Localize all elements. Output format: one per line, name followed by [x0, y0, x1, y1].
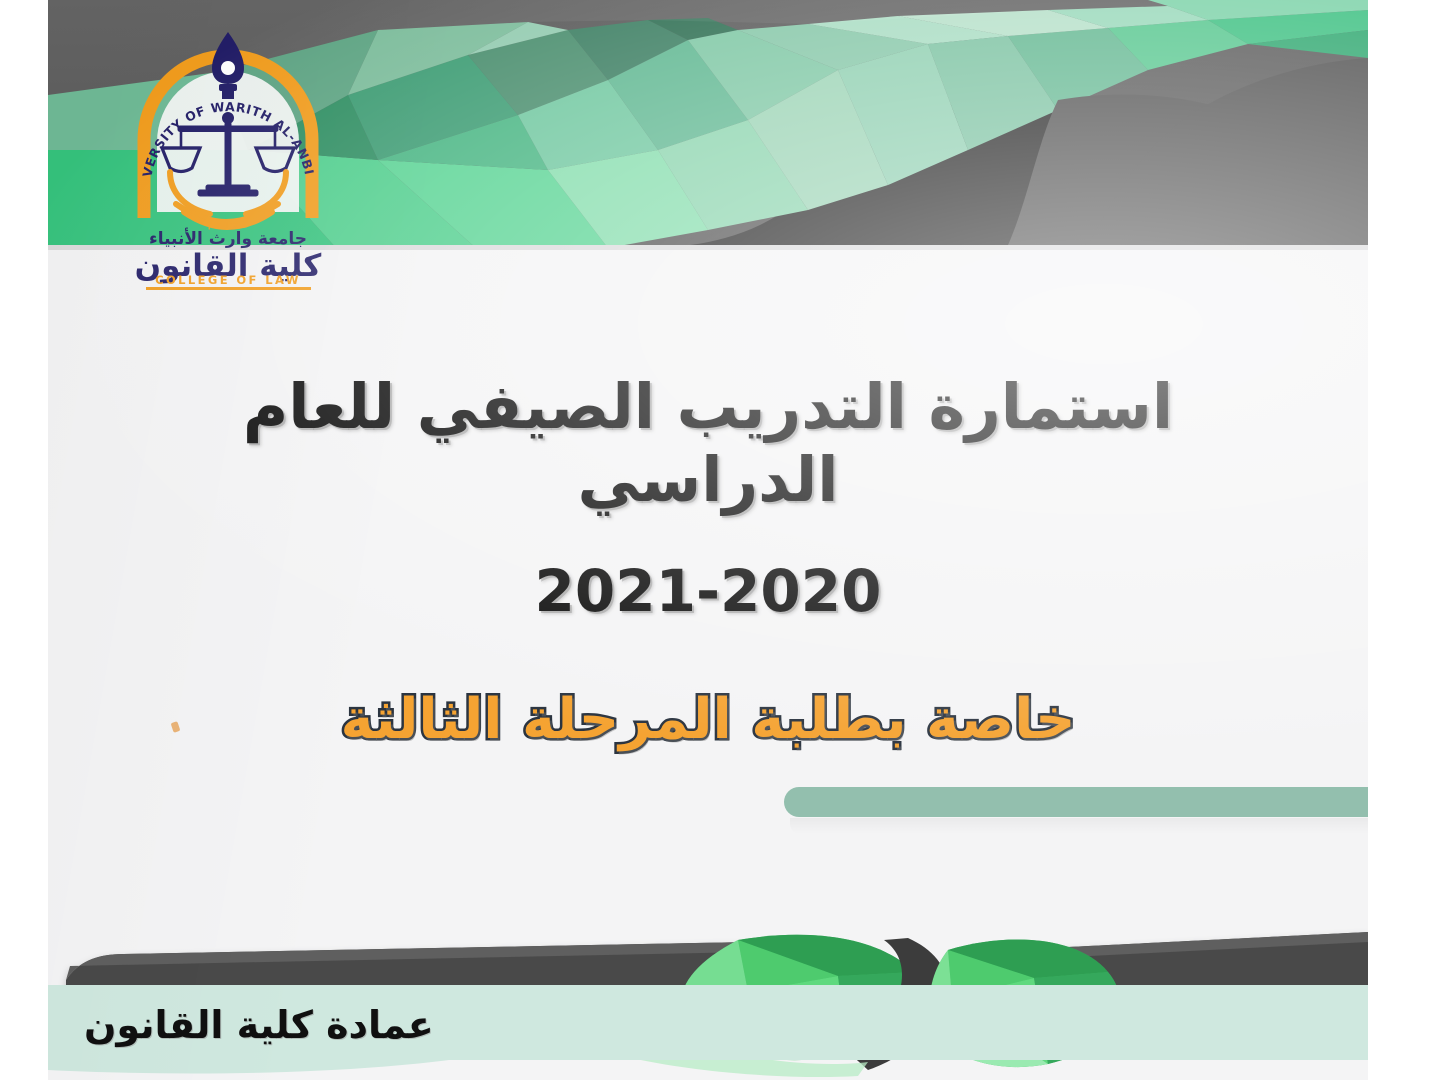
- mid-bar-shadow: [790, 818, 1368, 834]
- headline-block: استمارة التدريب الصيفي للعام الدراسي 202…: [48, 370, 1368, 753]
- page-subtitle: خاصة بطلبة المرحلة الثالثة: [48, 688, 1368, 752]
- footer-label: عمادة كلية القانون: [84, 995, 644, 1055]
- page-title: استمارة التدريب الصيفي للعام الدراسي: [48, 370, 1368, 516]
- logo-underline: [146, 287, 311, 290]
- logo-faculty-en: COLLEGE OF LAW: [155, 273, 301, 287]
- slide-canvas: UNIVERSITY OF WARITH AL-ANBIYAA: [0, 0, 1440, 1080]
- academic-year: 2021-2020: [48, 562, 1368, 620]
- university-logo: UNIVERSITY OF WARITH AL-ANBIYAA: [126, 22, 331, 290]
- logo-institution-ar: جامعة وارث الأنبياء: [149, 228, 307, 249]
- slide: UNIVERSITY OF WARITH AL-ANBIYAA: [48, 0, 1368, 1080]
- mid-accent-bar: [784, 787, 1368, 817]
